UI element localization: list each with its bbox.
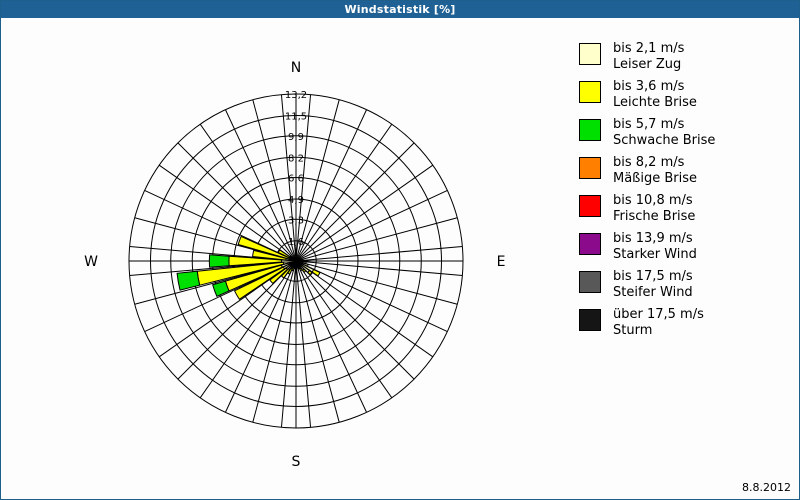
radial-tick-6: 11,5 <box>285 112 307 123</box>
legend-swatch-5 <box>579 233 601 255</box>
legend-item: bis 8,2 m/s Mäßige Brise <box>579 155 794 186</box>
radial-tick-2: 4,9 <box>288 195 304 206</box>
grid-spoke-16 <box>296 261 339 422</box>
legend-item: bis 17,5 m/s Steifer Wind <box>579 269 794 300</box>
legend-swatch-3 <box>579 157 601 179</box>
petal-sector-330-band-1 <box>294 258 295 259</box>
legend-name-3: Mäßige Brise <box>613 171 697 187</box>
petal-sector-270-band-2 <box>209 255 229 267</box>
compass-label-north: N <box>291 60 301 76</box>
window-title: Windstatistik [%] <box>344 3 455 16</box>
date-stamp: 8.8.2012 <box>742 481 791 494</box>
legend-item: bis 10,8 m/s Frische Brise <box>579 193 794 224</box>
legend-speed-4: bis 10,8 m/s <box>613 193 695 209</box>
legend-swatch-6 <box>579 271 601 293</box>
legend-swatch-2 <box>579 119 601 141</box>
compass-label-west: W <box>84 254 98 270</box>
legend-name-6: Steifer Wind <box>613 285 693 301</box>
legend-name-0: Leiser Zug <box>613 57 684 73</box>
legend-speed-6: bis 17,5 m/s <box>613 269 693 285</box>
legend-item: bis 2,1 m/s Leiser Zug <box>579 41 794 72</box>
legend-swatch-0 <box>579 43 601 65</box>
radial-tick-1: 3,3 <box>288 215 304 226</box>
legend-speed-7: über 17,5 m/s <box>613 307 704 323</box>
legend-name-4: Frische Brise <box>613 209 695 225</box>
wind-rose-plot: 1,63,34,96,68,29,911,513,2 N E S W <box>1 18 571 483</box>
window-titlebar: Windstatistik [%] <box>1 1 799 18</box>
legend-speed-3: bis 8,2 m/s <box>613 155 697 171</box>
radial-tick-0: 1,6 <box>288 237 304 248</box>
radial-tick-4: 8,2 <box>288 153 304 164</box>
legend-name-2: Schwache Brise <box>613 133 715 149</box>
compass-label-south: S <box>292 454 301 470</box>
legend-item: bis 13,9 m/s Starker Wind <box>579 231 794 262</box>
grid-spoke-7 <box>296 218 457 261</box>
legend-speed-2: bis 5,7 m/s <box>613 117 715 133</box>
radial-tick-3: 6,6 <box>288 174 304 185</box>
radial-tick-5: 9,9 <box>288 132 304 143</box>
legend-item: bis 3,6 m/s Leichte Brise <box>579 79 794 110</box>
legend-speed-5: bis 13,9 m/s <box>613 231 697 247</box>
compass-label-east: E <box>497 254 506 270</box>
legend-swatch-1 <box>579 81 601 103</box>
legend-item: über 17,5 m/s Sturm <box>579 307 794 338</box>
petal-sector-150-band-1 <box>300 268 302 270</box>
wind-rose-svg: 1,63,34,96,68,29,911,513,2 N E S W <box>1 18 571 483</box>
radial-tick-7: 13,2 <box>285 90 307 101</box>
legend-item: bis 5,7 m/s Schwache Brise <box>579 117 794 148</box>
legend-name-7: Sturm <box>613 323 704 339</box>
windstatistik-window: Windstatistik [%] 1,63,34,96,68,29,911,5… <box>0 0 800 500</box>
grid-spoke-10 <box>296 261 457 304</box>
legend-swatch-4 <box>579 195 601 217</box>
legend: bis 2,1 m/s Leiser Zug bis 3,6 m/s Leich… <box>579 41 794 345</box>
legend-name-5: Starker Wind <box>613 247 697 263</box>
petal-sector-120-band-1 <box>312 270 320 276</box>
legend-speed-0: bis 2,1 m/s <box>613 41 684 57</box>
legend-speed-1: bis 3,6 m/s <box>613 79 697 95</box>
legend-name-1: Leichte Brise <box>613 95 697 111</box>
legend-swatch-7 <box>579 309 601 331</box>
